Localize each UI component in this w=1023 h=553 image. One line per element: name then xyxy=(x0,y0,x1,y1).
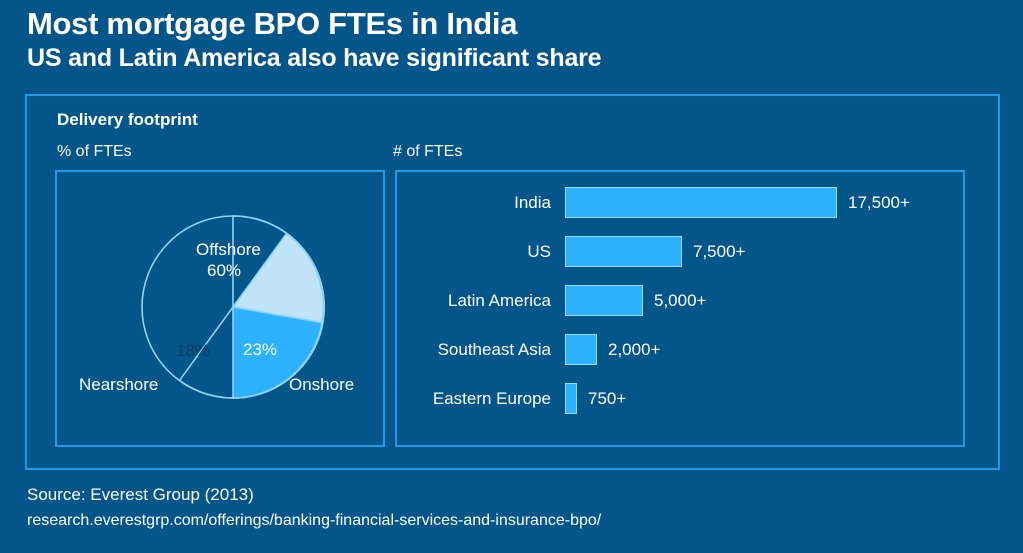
bar-fill xyxy=(565,187,837,218)
bar-axis-label: # of FTEs xyxy=(393,143,462,161)
bar-category-label: US xyxy=(395,242,565,262)
bar-row: Southeast Asia 2,000+ xyxy=(395,325,965,374)
bar-track: 5,000+ xyxy=(565,285,706,316)
bar-track: 2,000+ xyxy=(565,334,660,365)
bar-row: US 7,500+ xyxy=(395,227,965,276)
bar-fill xyxy=(565,383,577,414)
section-heading: Delivery footprint xyxy=(57,110,198,130)
bar-track: 750+ xyxy=(565,383,626,414)
bar-chart: India 17,500+ US 7,500+ Latin America 5,… xyxy=(395,178,965,423)
bar-category-label: Southeast Asia xyxy=(395,340,565,360)
page-subtitle: US and Latin America also have significa… xyxy=(27,42,987,74)
bar-row: Eastern Europe 750+ xyxy=(395,374,965,423)
bar-value-label: 750+ xyxy=(588,389,626,409)
pie-axis-label: % of FTEs xyxy=(57,143,132,161)
source-url: research.everestgrp.com/offerings/bankin… xyxy=(27,508,997,534)
pie-chart-panel xyxy=(55,170,385,447)
bar-category-label: Latin America xyxy=(395,291,565,311)
bar-fill xyxy=(565,334,597,365)
page-title: Most mortgage BPO FTEs in India xyxy=(27,6,987,42)
bar-track: 7,500+ xyxy=(565,236,745,267)
header: Most mortgage BPO FTEs in India US and L… xyxy=(27,6,987,74)
bar-value-label: 5,000+ xyxy=(654,291,706,311)
bar-fill xyxy=(565,236,682,267)
pie-label-nearshore-name: Nearshore xyxy=(79,375,158,395)
bar-category-label: Eastern Europe xyxy=(395,389,565,409)
bar-track: 17,500+ xyxy=(565,187,910,218)
pie-chart xyxy=(57,172,383,445)
bar-value-label: 7,500+ xyxy=(693,242,745,262)
pie-label-onshore-name: Onshore xyxy=(289,375,354,395)
bar-value-label: 2,000+ xyxy=(608,340,660,360)
pie-label-offshore-value: 60% xyxy=(207,261,241,281)
bar-row: India 17,500+ xyxy=(395,178,965,227)
pie-label-nearshore-value: 18% xyxy=(176,341,210,361)
source-citation: Source: Everest Group (2013) xyxy=(27,482,997,508)
pie-label-offshore-name: Offshore xyxy=(196,240,261,260)
pie-label-onshore-value: 23% xyxy=(243,340,277,360)
bar-value-label: 17,500+ xyxy=(848,193,910,213)
bar-fill xyxy=(565,285,643,316)
bar-category-label: India xyxy=(395,193,565,213)
footer: Source: Everest Group (2013) research.ev… xyxy=(27,482,997,534)
bar-row: Latin America 5,000+ xyxy=(395,276,965,325)
